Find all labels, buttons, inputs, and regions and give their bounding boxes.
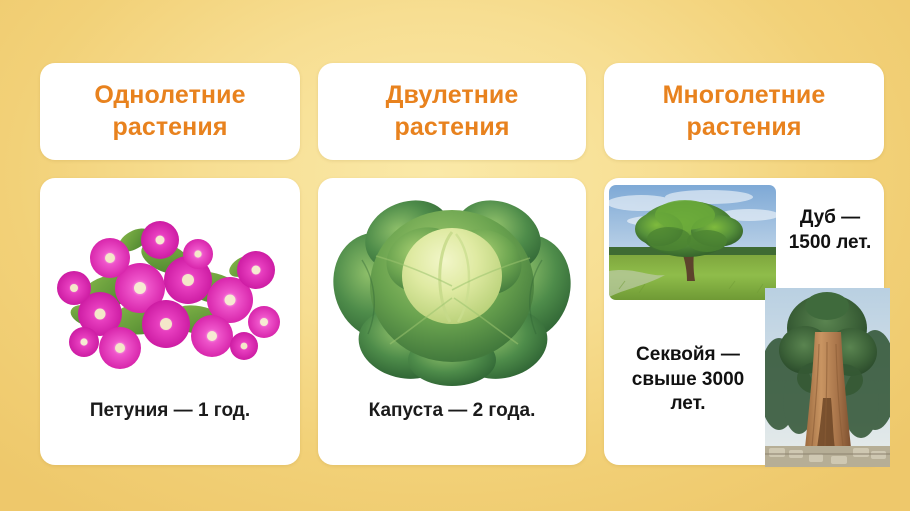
content-card-annuals: Петуния — 1 год. [40, 178, 300, 465]
heading-text-biennials: Двулетние растения [386, 80, 519, 143]
content-card-biennials: Капуста — 2 года. [318, 178, 586, 465]
cabbage-illustration [332, 190, 572, 386]
sequoia-label: Секвойя — свыше 3000 лет. [612, 343, 764, 417]
oak-label-line-1: Дуб — [800, 207, 860, 228]
heading-card-perennials: Многолетние растения [604, 63, 884, 160]
oak-label-line-2: 1500 лет. [789, 232, 872, 253]
sequoia-label-line-3: лет. [670, 393, 705, 414]
heading-line-1: Двулетние [386, 81, 519, 109]
heading-line-2: растения [394, 113, 509, 141]
oak-label: Дуб — 1500 лет. [780, 206, 880, 255]
caption-biennials: Капуста — 2 года. [318, 400, 586, 422]
heading-line-1: Многолетние [663, 81, 826, 109]
caption-annuals: Петуния — 1 год. [40, 400, 300, 422]
heading-line-2: растения [686, 113, 801, 141]
petunia-illustration [48, 196, 292, 376]
oak-photo [609, 185, 776, 300]
slide-root: Однолетние растения [0, 0, 910, 511]
content-card-perennials: Дуб — 1500 лет. Секвойя — свыше 3000 лет… [604, 178, 884, 465]
petunia-photo [48, 196, 292, 376]
cabbage-photo [332, 190, 572, 386]
sequoia-label-line-1: Секвойя — [636, 344, 740, 365]
heading-line-1: Однолетние [94, 81, 245, 109]
sequoia-illustration [765, 288, 890, 467]
sequoia-label-line-2: свыше 3000 [632, 369, 744, 390]
heading-text-annuals: Однолетние растения [94, 80, 245, 143]
heading-card-annuals: Однолетние растения [40, 63, 300, 160]
heading-text-perennials: Многолетние растения [663, 80, 826, 143]
oak-illustration [609, 185, 776, 300]
sequoia-photo [765, 288, 890, 467]
heading-line-2: растения [112, 113, 227, 141]
heading-card-biennials: Двулетние растения [318, 63, 586, 160]
